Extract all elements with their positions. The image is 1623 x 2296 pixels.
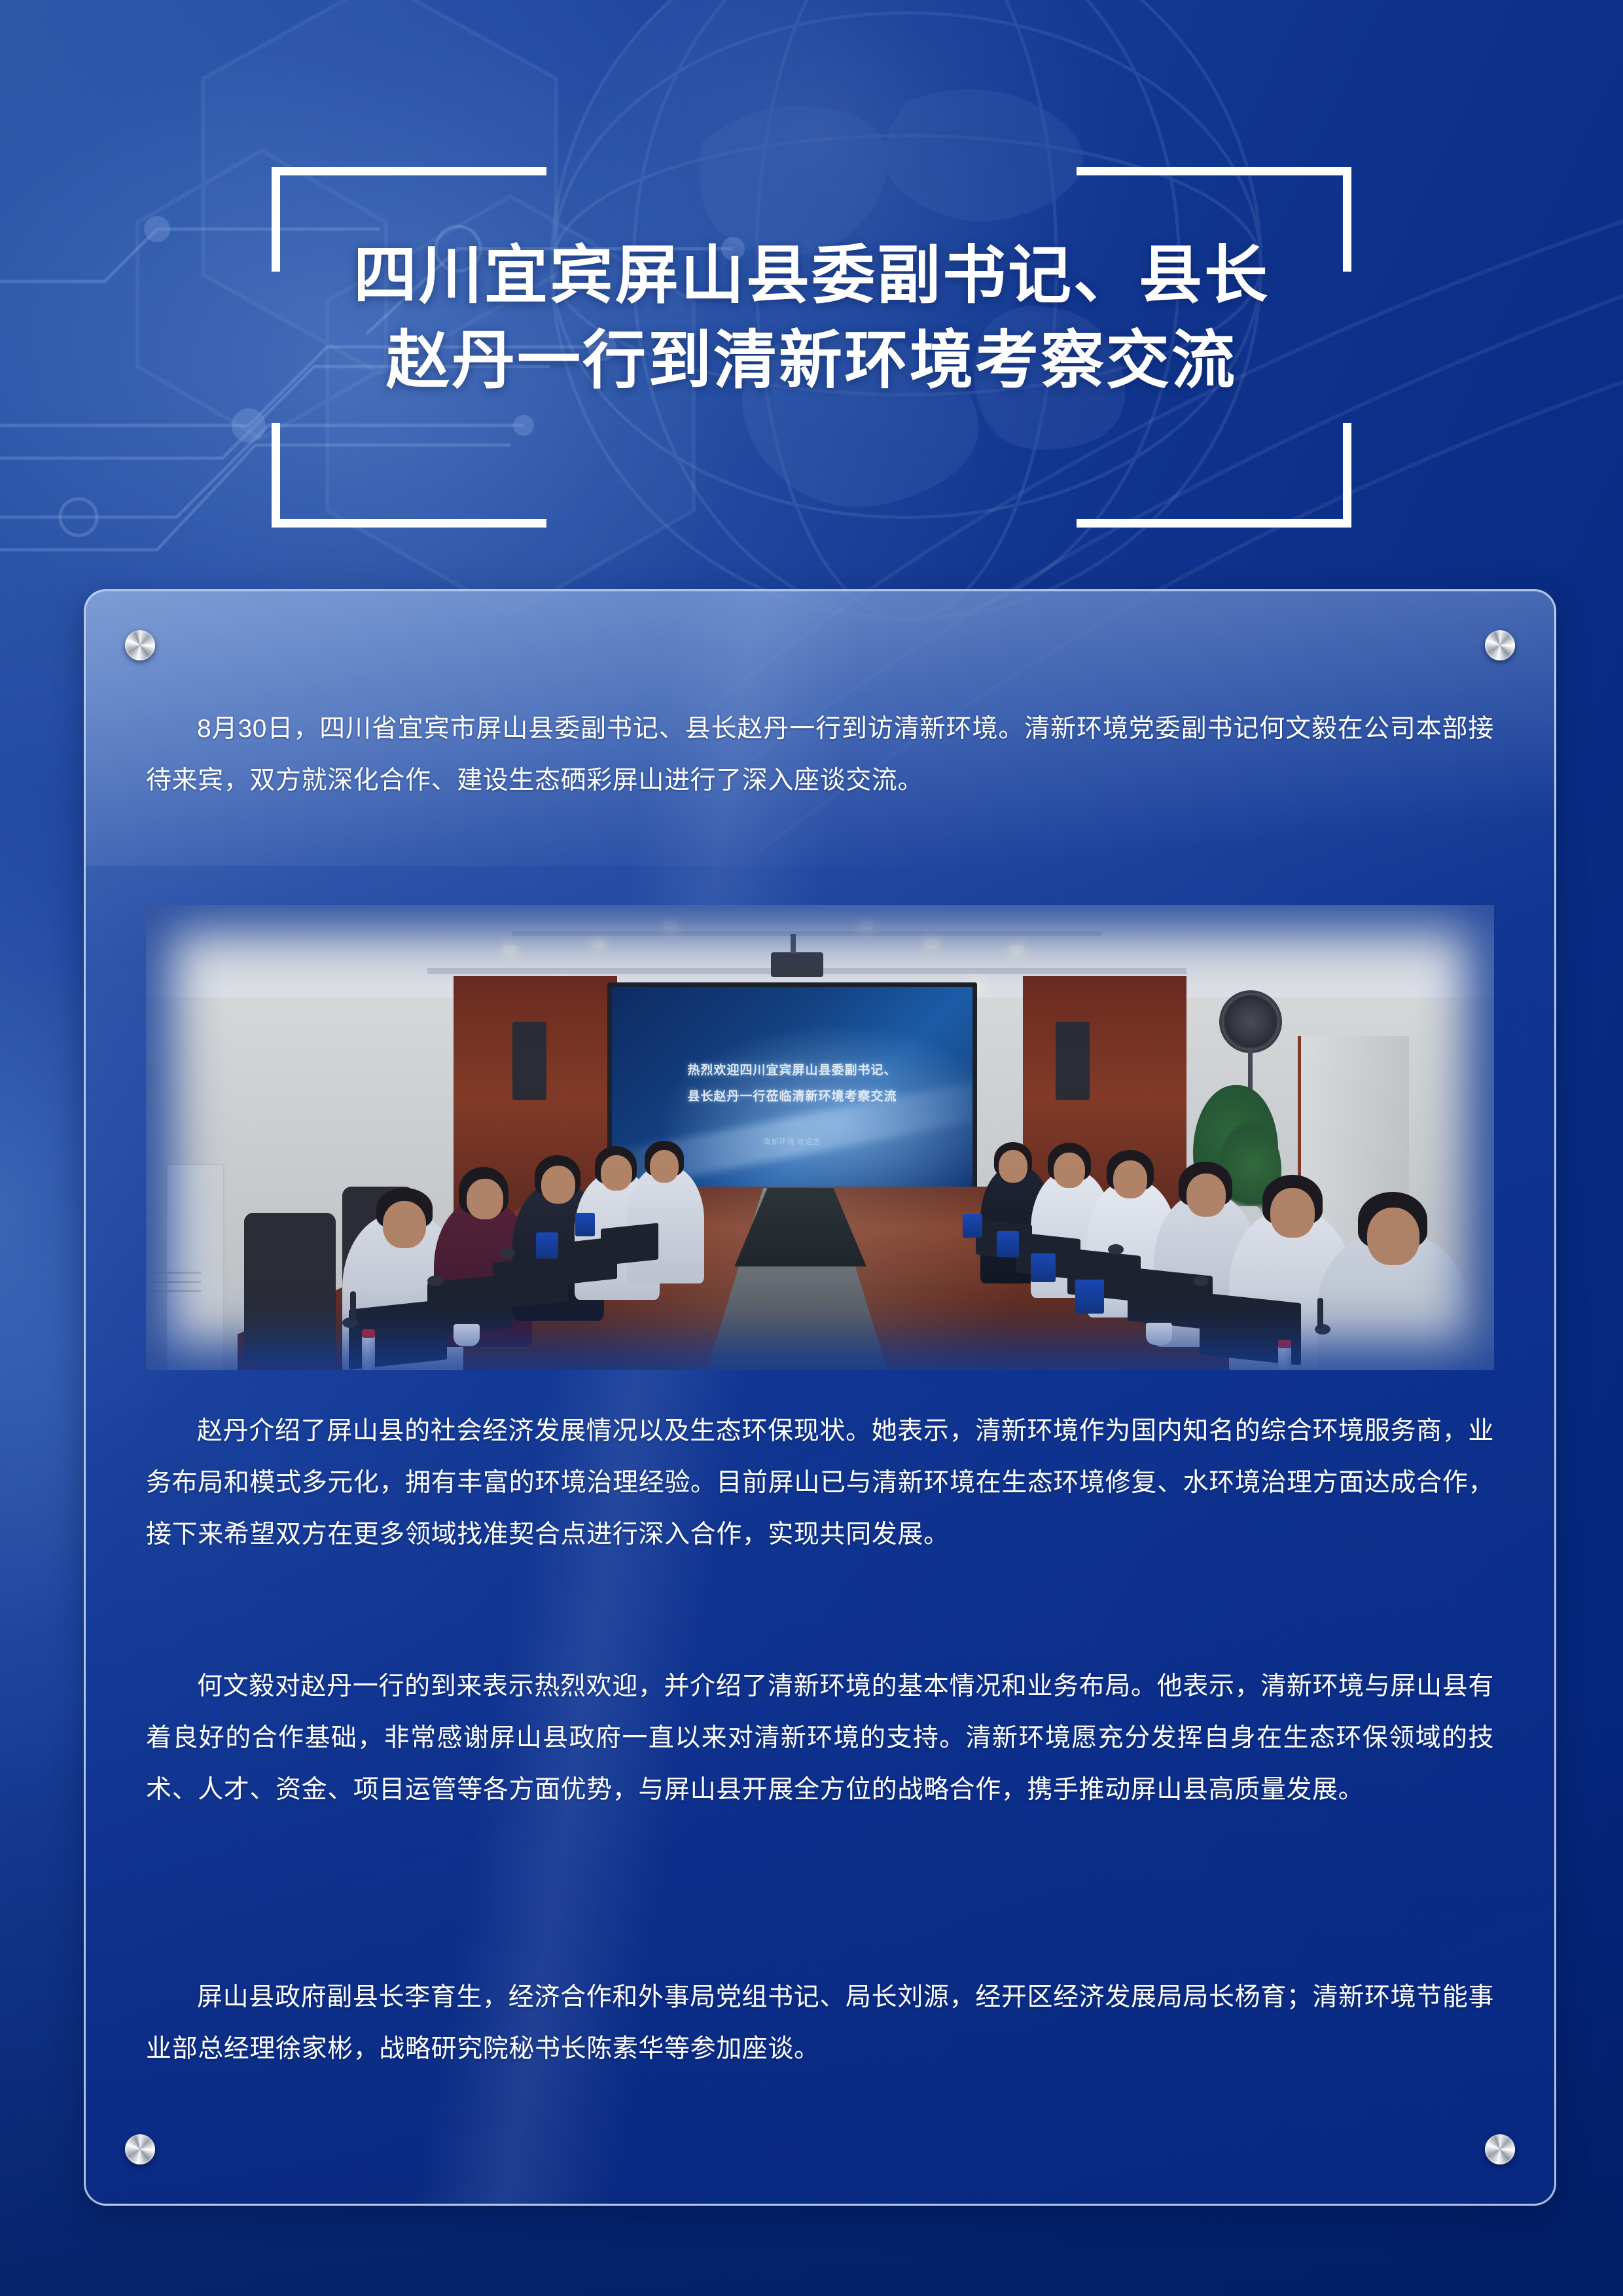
title-line-2: 赵丹一行到清新环境考察交流 bbox=[0, 318, 1623, 403]
poster-header: 四川宜宾屏山县委副书记、县长 赵丹一行到清新环境考察交流 bbox=[0, 0, 1623, 576]
card-screw-top-right bbox=[1485, 630, 1515, 660]
article-paragraph-2: 赵丹介绍了屏山县的社会经济发展情况以及生态环保现状。她表示，清新环境作为国内知名… bbox=[146, 1406, 1494, 1560]
article-paragraph-1: 8月30日，四川省宜宾市屏山县委副书记、县长赵丹一行到访清新环境。清新环境党委副… bbox=[146, 704, 1494, 807]
page-title: 四川宜宾屏山县委副书记、县长 赵丹一行到清新环境考察交流 bbox=[0, 233, 1623, 403]
card-screw-top-left bbox=[125, 630, 155, 660]
card-screw-bottom-left bbox=[125, 2134, 155, 2164]
article-paragraph-4: 屏山县政府副县长李育生，经济合作和外事局党组书记、局长刘源，经开区经济发展局局长… bbox=[146, 1972, 1494, 2075]
poster-root: 四川宜宾屏山县委副书记、县长 赵丹一行到清新环境考察交流 8月30日，四川省宜宾… bbox=[0, 0, 1623, 2296]
content-card: 8月30日，四川省宜宾市屏山县委副书记、县长赵丹一行到访清新环境。清新环境党委副… bbox=[84, 589, 1556, 2206]
title-line-1: 四川宜宾屏山县委副书记、县长 bbox=[0, 233, 1623, 318]
projector-caption-line-2: 县长赵丹一行莅临清新环境考察交流 bbox=[612, 1086, 972, 1104]
projector-caption-line-1: 热烈欢迎四川宜宾屏山县委副书记、 bbox=[612, 1060, 972, 1078]
article-paragraph-3: 何文毅对赵丹一行的到来表示热烈欢迎，并介绍了清新环境的基本情况和业务布局。他表示… bbox=[146, 1661, 1494, 1816]
meeting-photo: 热烈欢迎四川宜宾屏山县委副书记、 县长赵丹一行莅临清新环境考察交流 清新环境 欢… bbox=[146, 905, 1494, 1370]
card-diagonal-highlight bbox=[385, 589, 886, 2206]
card-screw-bottom-right bbox=[1485, 2134, 1515, 2164]
